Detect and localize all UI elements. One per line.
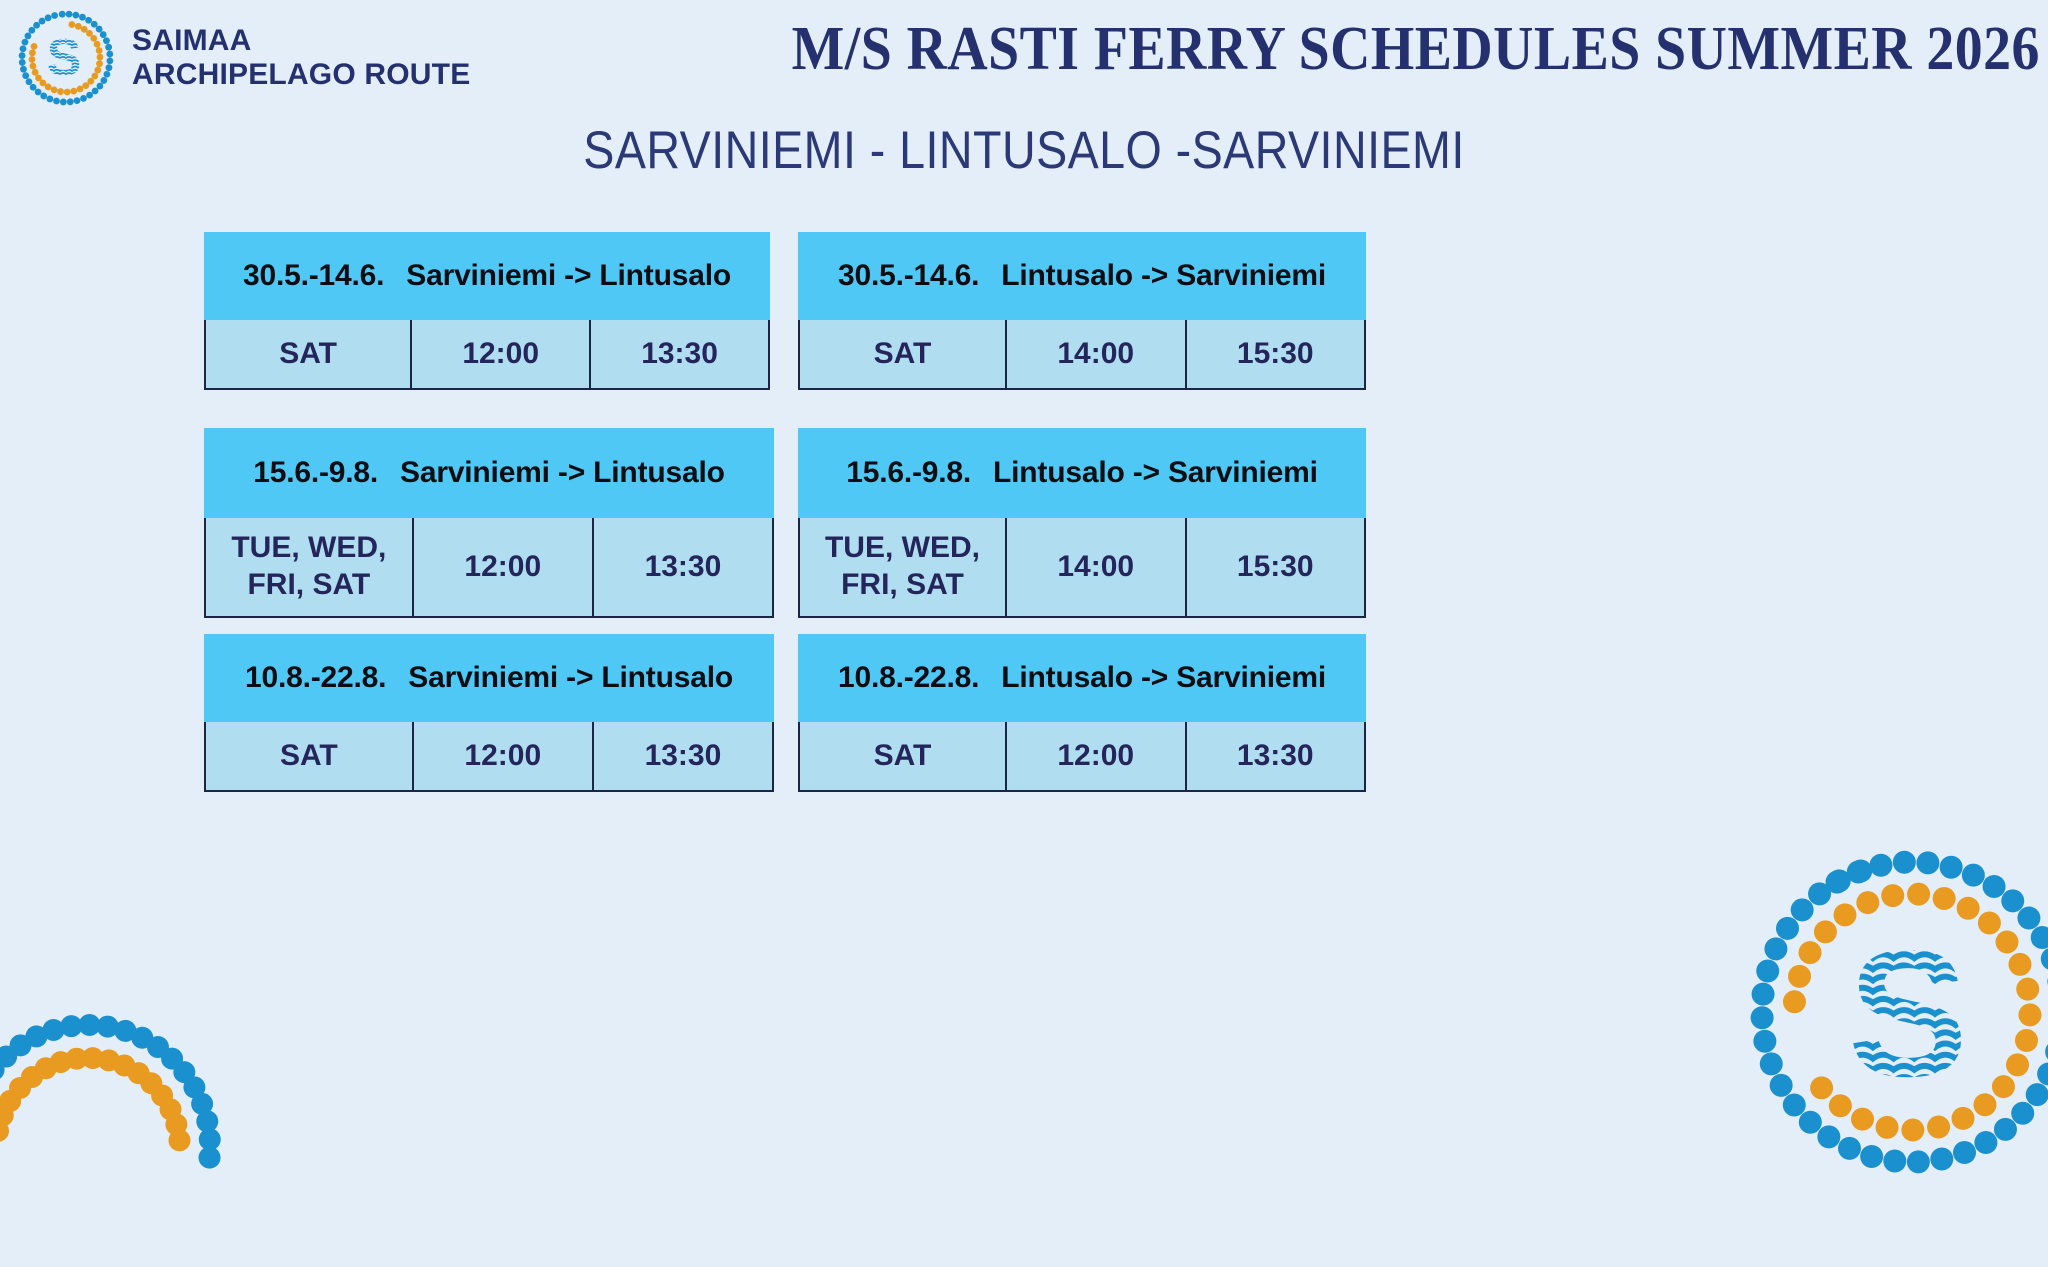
days-cell: SAT: [800, 722, 1007, 790]
date-range: 30.5.-14.6.: [838, 259, 979, 293]
days-cell: TUE, WED, FRI, SAT: [206, 518, 414, 616]
date-range: 10.8.-22.8.: [838, 661, 979, 695]
route-label: Sarviniemi -> Lintusalo: [400, 456, 725, 490]
schedule-table-sarviniemi-lintusalo-3: 10.8.-22.8. Sarviniemi -> Lintusalo SAT …: [204, 634, 774, 792]
arrival-time-cell: 15:30: [1187, 320, 1365, 388]
route-label: Lintusalo -> Sarviniemi: [1001, 259, 1326, 293]
days-line1: TUE, WED,: [231, 531, 386, 564]
days-cell: SAT: [800, 320, 1007, 388]
schedule-table-sarviniemi-lintusalo-2: 15.6.-9.8. Sarviniemi -> Lintusalo TUE, …: [204, 428, 774, 618]
arrival-time-cell: 13:30: [594, 518, 772, 616]
saimaa-dotted-s-logo-icon: S: [14, 6, 118, 110]
dotted-s-logo-bottom-right-icon: S: [1732, 832, 2048, 1192]
date-range: 15.6.-9.8.: [253, 456, 378, 490]
dotted-arc-bottom-left-icon: [0, 962, 238, 1262]
arrival-time-cell: 15:30: [1187, 518, 1365, 616]
schedule-grid: 30.5.-14.6. Sarviniemi -> Lintusalo SAT …: [0, 232, 2048, 830]
schedule-row-2: 15.6.-9.8. Sarviniemi -> Lintusalo TUE, …: [0, 428, 2048, 634]
table-row: TUE, WED, FRI, SAT 12:00 13:30: [204, 518, 774, 618]
route-label: Sarviniemi -> Lintusalo: [408, 661, 733, 695]
schedule-table-sarviniemi-lintusalo-1: 30.5.-14.6. Sarviniemi -> Lintusalo SAT …: [204, 232, 770, 390]
days-line1: TUE, WED,: [825, 531, 980, 564]
schedule-table-lintusalo-sarviniemi-1: 30.5.-14.6. Lintusalo -> Sarviniemi SAT …: [798, 232, 1366, 390]
schedule-header: 10.8.-22.8. Sarviniemi -> Lintusalo: [204, 634, 774, 722]
date-range: 10.8.-22.8.: [245, 661, 386, 695]
table-row: SAT 12:00 13:30: [204, 320, 770, 390]
departure-time-cell: 14:00: [1007, 320, 1187, 388]
route-label: Lintusalo -> Sarviniemi: [1001, 661, 1326, 695]
departure-time-cell: 12:00: [414, 722, 594, 790]
table-row: SAT 14:00 15:30: [798, 320, 1366, 390]
brand-name-line1: SAIMAA: [132, 24, 252, 57]
schedule-table-lintusalo-sarviniemi-2: 15.6.-9.8. Lintusalo -> Sarviniemi TUE, …: [798, 428, 1366, 618]
brand-name-line2: ARCHIPELAGO ROUTE: [132, 58, 470, 92]
brand-logo: S SAIMAA ARCHIPELAGO ROUTE: [14, 6, 470, 110]
table-row: SAT 12:00 13:30: [798, 722, 1366, 792]
departure-time-cell: 12:00: [1007, 722, 1187, 790]
route-label: Sarviniemi -> Lintusalo: [406, 259, 731, 293]
route-label: Lintusalo -> Sarviniemi: [993, 456, 1318, 490]
table-row: SAT 12:00 13:30: [204, 722, 774, 792]
schedule-row-3: 10.8.-22.8. Sarviniemi -> Lintusalo SAT …: [0, 634, 2048, 830]
schedule-header: 15.6.-9.8. Sarviniemi -> Lintusalo: [204, 428, 774, 518]
departure-time-cell: 12:00: [412, 320, 591, 388]
arrival-time-cell: 13:30: [1187, 722, 1365, 790]
schedule-row-1: 30.5.-14.6. Sarviniemi -> Lintusalo SAT …: [0, 232, 2048, 428]
route-subtitle: SARVINIEMI - LINTUSALO -SARVINIEMI: [123, 120, 1925, 181]
schedule-table-lintusalo-sarviniemi-3: 10.8.-22.8. Lintusalo -> Sarviniemi SAT …: [798, 634, 1366, 792]
page-header: S SAIMAA ARCHIPELAGO ROUTE M/S RASTI FER…: [0, 0, 2048, 120]
arrival-time-cell: 13:30: [591, 320, 768, 388]
departure-time-cell: 12:00: [414, 518, 594, 616]
arrival-time-cell: 13:30: [594, 722, 772, 790]
table-row: TUE, WED, FRI, SAT 14:00 15:30: [798, 518, 1366, 618]
page-title: M/S RASTI FERRY SCHEDULES SUMMER 2026: [792, 14, 2040, 85]
schedule-header: 30.5.-14.6. Sarviniemi -> Lintusalo: [204, 232, 770, 320]
schedule-header: 30.5.-14.6. Lintusalo -> Sarviniemi: [798, 232, 1366, 320]
date-range: 30.5.-14.6.: [243, 259, 384, 293]
days-line2: FRI, SAT: [247, 568, 370, 601]
schedule-header: 15.6.-9.8. Lintusalo -> Sarviniemi: [798, 428, 1366, 518]
days-cell: SAT: [206, 722, 414, 790]
date-range: 15.6.-9.8.: [846, 456, 971, 490]
departure-time-cell: 14:00: [1007, 518, 1187, 616]
days-cell: TUE, WED, FRI, SAT: [800, 518, 1007, 616]
days-cell: SAT: [206, 320, 412, 388]
brand-name: SAIMAA ARCHIPELAGO ROUTE: [132, 24, 470, 91]
days-line2: FRI, SAT: [841, 568, 964, 601]
schedule-header: 10.8.-22.8. Lintusalo -> Sarviniemi: [798, 634, 1366, 722]
